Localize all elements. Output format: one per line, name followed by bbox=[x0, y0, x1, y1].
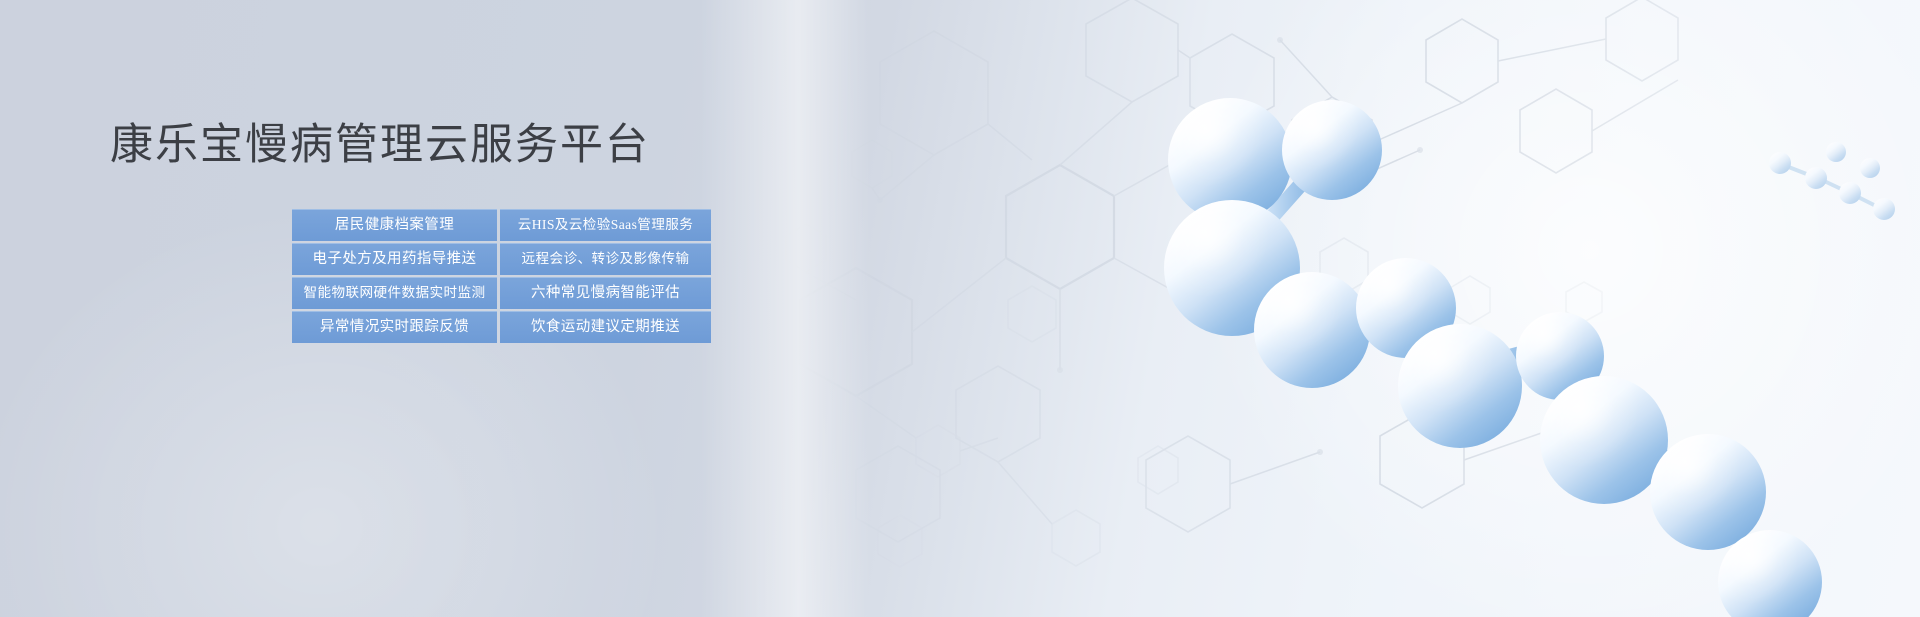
feature-item[interactable]: 饮食运动建议定期推送 bbox=[500, 311, 711, 343]
glossy-sphere-chain bbox=[1164, 98, 1822, 617]
sphere bbox=[1540, 376, 1668, 504]
small-molecule-cluster bbox=[1769, 142, 1895, 220]
page-title: 康乐宝慢病管理云服务平台 bbox=[0, 118, 760, 172]
feature-item[interactable]: 远程会诊、转诊及影像传输 bbox=[500, 243, 711, 275]
sphere bbox=[1282, 100, 1382, 200]
feature-item[interactable]: 异常情况实时跟踪反馈 bbox=[292, 311, 497, 343]
sphere bbox=[1254, 272, 1370, 388]
feature-item[interactable]: 云HIS及云检验Saas管理服务 bbox=[500, 209, 711, 241]
feature-item[interactable]: 电子处方及用药指导推送 bbox=[292, 243, 497, 275]
hero-banner: 康乐宝慢病管理云服务平台 居民健康档案管理 云HIS及云检验Saas管理服务 电… bbox=[0, 0, 1920, 617]
feature-grid: 居民健康档案管理 云HIS及云检验Saas管理服务 电子处方及用药指导推送 远程… bbox=[292, 209, 711, 343]
feature-item[interactable]: 六种常见慢病智能评估 bbox=[500, 277, 711, 309]
banner-content: 康乐宝慢病管理云服务平台 居民健康档案管理 云HIS及云检验Saas管理服务 电… bbox=[0, 0, 760, 617]
feature-item[interactable]: 智能物联网硬件数据实时监测 bbox=[292, 277, 497, 309]
feature-item[interactable]: 居民健康档案管理 bbox=[292, 209, 497, 241]
molecule-artwork bbox=[760, 0, 1920, 617]
sphere bbox=[1398, 324, 1522, 448]
sphere bbox=[1650, 434, 1766, 550]
